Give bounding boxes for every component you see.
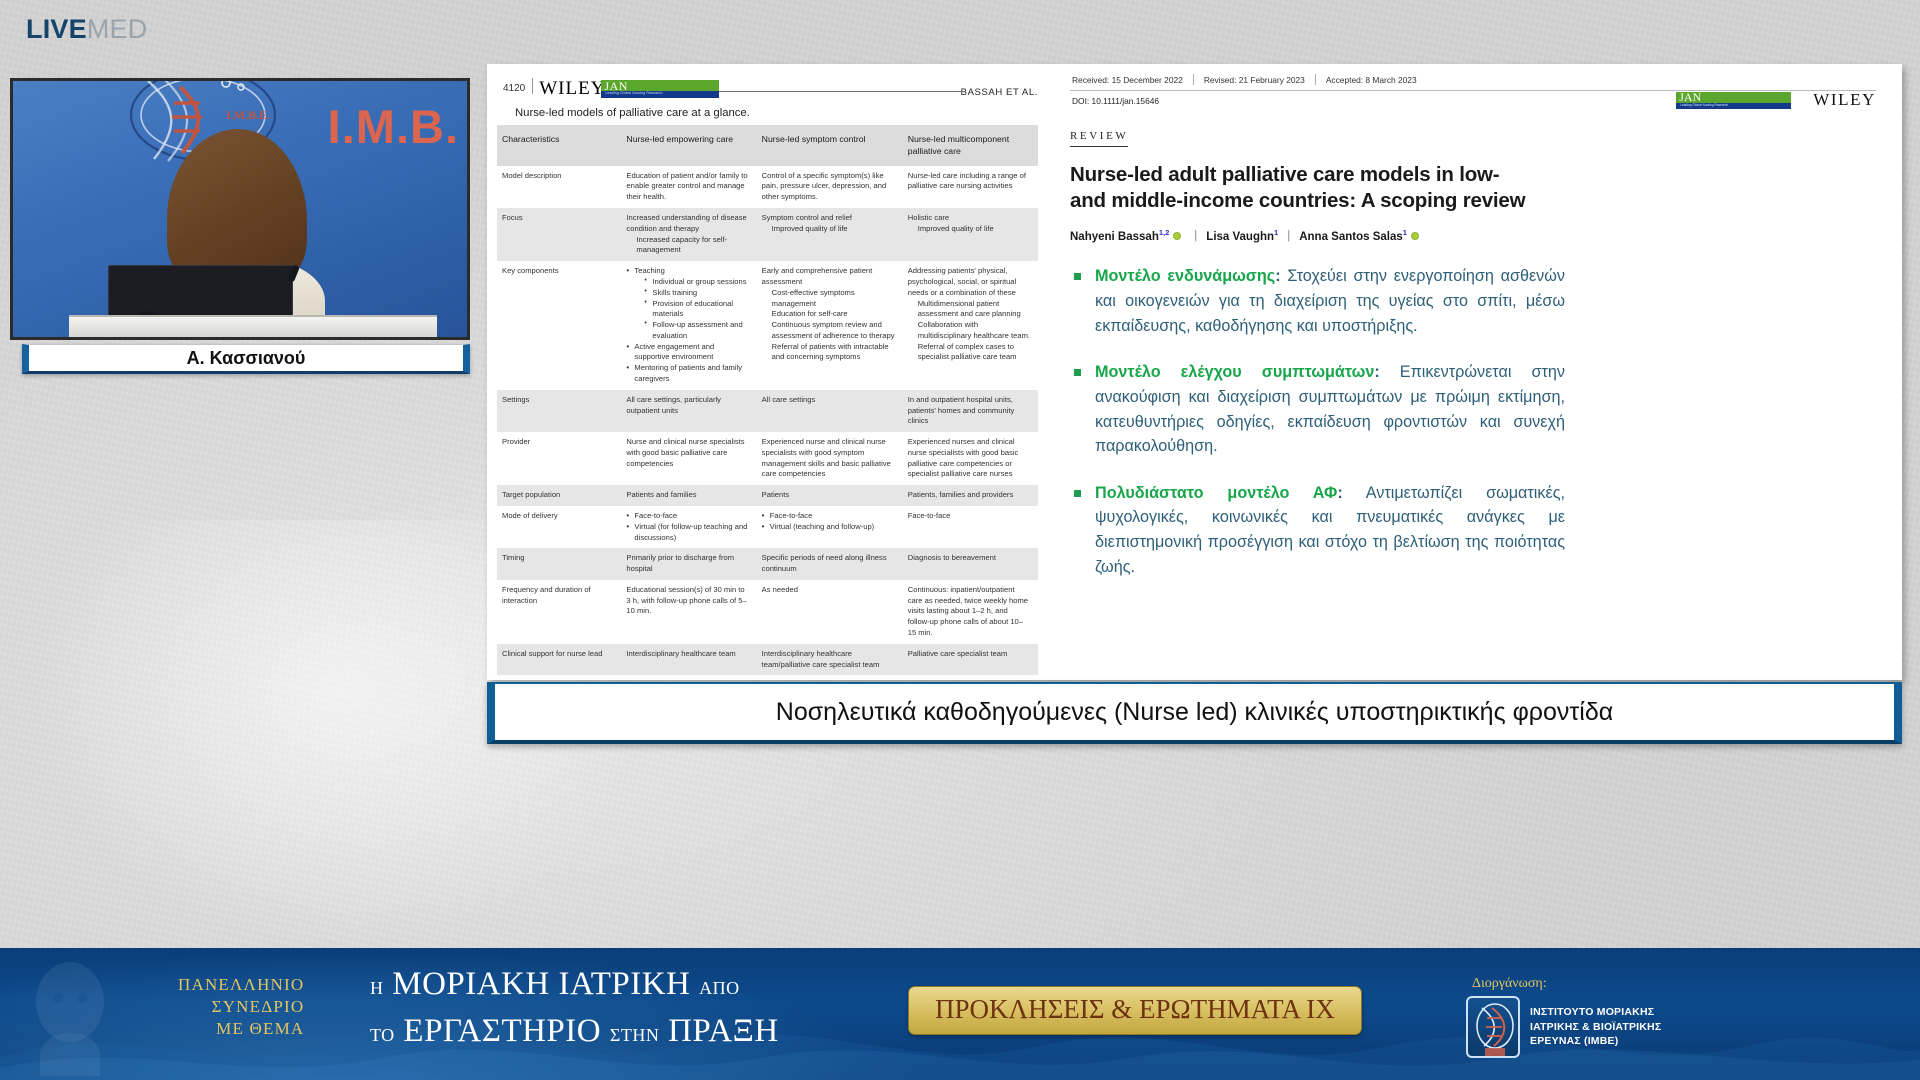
table-cell-c0: Timing — [497, 548, 621, 580]
author-separator: | — [1287, 230, 1290, 242]
conf-title-l2-tail: ΠΡΑΞΗ — [668, 1013, 779, 1049]
organizer-line-2: ΕΡΕΥΝΑΣ (ΙΜΒΕ) — [1530, 1034, 1661, 1049]
logo-live-text: LIVE — [26, 14, 87, 44]
orcid-icon — [1173, 232, 1181, 240]
conf-title-l2-mid: ΣΤΗΝ — [610, 1025, 659, 1045]
table-cell-c3: Continuous: inpatient/outpatient care as… — [903, 580, 1038, 644]
logo-med-text: MED — [87, 14, 148, 44]
organizer-label: Διοργάνωση: — [1472, 976, 1547, 992]
table-cell-c1: Patients and families — [621, 485, 756, 506]
conf-line-0: ΠΑΝΕΛΛΗΝΙΟ — [178, 974, 304, 996]
philosopher-bust-icon — [10, 952, 130, 1076]
speaker-name: Α. Κασσιανού — [187, 348, 306, 369]
speaker-name-plate: Α. Κασσιανού — [22, 344, 470, 374]
table-cell-c0: Key components — [497, 261, 621, 390]
table-row: ProviderNurse and clinical nurse special… — [497, 432, 1038, 485]
conference-subtitle: ΠΑΝΕΛΛΗΝΙΟ ΣΥΝΕΔΡΙΟ ΜΕ ΘΕΜΑ — [178, 974, 304, 1039]
conf-title-l2-pre: ΤΟ — [370, 1025, 395, 1045]
organizer-line-1: ΙΑΤΡΙΚΗΣ & ΒΙΟΪΑΤΡΙΚΗΣ — [1530, 1020, 1661, 1035]
table-cell-c0: Mode of delivery — [497, 506, 621, 548]
author-name: Lisa Vaughn1 — [1206, 228, 1278, 243]
author-name: Anna Santos Salas1 — [1299, 228, 1423, 243]
table-cell-c2: Early and comprehensive patient assessme… — [757, 261, 903, 390]
article-page: Received: 15 December 2022 Revised: 21 F… — [1052, 64, 1902, 680]
conf-title-l2: ΕΡΓΑΣΤΗΡΙΟ — [403, 1013, 601, 1049]
greek-bullet-list: Μοντέλο ενδυνάμωσης: Στοχεύει στην ενεργ… — [1070, 264, 1876, 579]
journal-table-page: 4120 WILEY JAN Leading Global Nursing Re… — [487, 64, 1052, 680]
table-cell-c1: Increased understanding of disease condi… — [621, 208, 756, 261]
table-cell-c2: Face-to-faceVirtual (teaching and follow… — [757, 506, 903, 548]
greek-bullet-text: Μοντέλο ελέγχου συμπτωμάτων: Επικεντρώνε… — [1095, 360, 1565, 459]
table-cell-c3: Palliative care specialist team — [903, 644, 1038, 676]
table-cell-c0: Frequency and duration of interaction — [497, 580, 621, 644]
speaker-video[interactable]: I.M.B.E. I.M.B. — [10, 78, 470, 340]
table-row: Model descriptionEducation of patient an… — [497, 166, 1038, 208]
conference-banner: ΠΑΝΕΛΛΗΝΙΟ ΣΥΝΕΔΡΙΟ ΜΕ ΘΕΜΑ Η ΜΟΡΙΑΚΗ ΙΑ… — [0, 948, 1920, 1080]
table-cell-c2: Patients — [757, 485, 903, 506]
jan-logo-right: JAN Leading Global Nursing Research — [1676, 92, 1791, 109]
table-cell-c2: Control of a specific symptom(s) like pa… — [757, 166, 903, 208]
conf-title-l1-pre: Η — [370, 978, 384, 998]
table-cell-c3: Nurse-led care including a range of pall… — [903, 166, 1038, 208]
article-type-kicker: REVIEW — [1070, 130, 1128, 147]
square-bullet-icon — [1074, 490, 1081, 497]
table-cell-c3: Holistic careImproved quality of life — [903, 208, 1038, 261]
author-separator: | — [1194, 230, 1197, 242]
orcid-icon — [1411, 232, 1419, 240]
jan-logo-left: JAN Leading Global Nursing Research — [601, 80, 719, 98]
greek-bullet-item: Μοντέλο ενδυνάμωσης: Στοχεύει στην ενεργ… — [1070, 264, 1876, 338]
table-cell-c0: Focus — [497, 208, 621, 261]
revised-date: Revised: 21 February 2023 — [1194, 75, 1315, 85]
table-cell-c0: Provider — [497, 432, 621, 485]
greek-bullet-text: Μοντέλο ενδυνάμωσης: Στοχεύει στην ενεργ… — [1095, 264, 1565, 338]
greek-bullet-text: Πολυδιάστατο μοντέλο ΑΦ: Αντιμετωπίζει σ… — [1095, 481, 1565, 580]
table-cell-c1: Interdisciplinary healthcare team — [621, 644, 756, 676]
article-title: Nurse-led adult palliative care models i… — [1070, 162, 1540, 214]
conf-line-1: ΣΥΝΕΔΡΙΟ — [178, 996, 304, 1018]
table-cell-c1: TeachingIndividual or group sessionsSkil… — [621, 261, 756, 390]
organizer-line-0: ΙΝΣΤΙΤΟΥΤΟ ΜΟΡΙΑΚΗΣ — [1530, 1005, 1661, 1020]
talk-title-text: Νοσηλευτικά καθοδηγούμενες (Nurse led) κ… — [776, 698, 1613, 727]
table-cell-c2: Symptom control and reliefImproved quali… — [757, 208, 903, 261]
table-cell-c0: Settings — [497, 390, 621, 432]
journal-page-header: 4120 WILEY JAN Leading Global Nursing Re… — [497, 78, 1038, 98]
table-cell-c0: Model description — [497, 166, 621, 208]
author-name: Nahyeni Bassah1,2 — [1070, 228, 1185, 243]
organizer-name: ΙΝΣΤΙΤΟΥΤΟ ΜΟΡΙΑΚΗΣ ΙΑΤΡΙΚΗΣ & ΒΙΟΪΑΤΡΙΚ… — [1530, 1005, 1661, 1050]
presentation-slide[interactable]: 4120 WILEY JAN Leading Global Nursing Re… — [487, 64, 1902, 680]
table-cell-c2: Experienced nurse and clinical nurse spe… — [757, 432, 903, 485]
table-cell-c1: Face-to-faceVirtual (for follow-up teach… — [621, 506, 756, 548]
table-row: Mode of deliveryFace-to-faceVirtual (for… — [497, 506, 1038, 548]
header-rule — [719, 91, 960, 92]
accepted-date: Accepted: 8 March 2023 — [1316, 75, 1427, 85]
page-folio-number: 4120 — [497, 78, 533, 94]
table-cell-c0: Clinical support for nurse lead — [497, 644, 621, 676]
table-cell-c3: In and outpatient hospital units, patien… — [903, 390, 1038, 432]
table-cell-c1: Education of patient and/or family to en… — [621, 166, 756, 208]
table-cell-c0: Target population — [497, 485, 621, 506]
table-header-row: Characteristics Nurse-led empowering car… — [497, 125, 1038, 166]
table-cell-c1: Educational session(s) of 30 min to 3 h,… — [621, 580, 756, 644]
laptop-screen — [108, 265, 293, 317]
wiley-logo-left: WILEY — [539, 78, 605, 98]
video-imb-watermark: I.M.B. — [328, 99, 459, 154]
table-cell-c2: Interdisciplinary healthcare team/pallia… — [757, 644, 903, 676]
running-head: BASSAH ET AL. — [961, 78, 1038, 98]
conference-edition-pill: ΠΡΟΚΛΗΣΕΙΣ & ΕΡΩΤΗΜΑΤΑ IX — [908, 986, 1362, 1035]
table-col-header-0: Characteristics — [497, 125, 621, 166]
table-row: Frequency and duration of interactionEdu… — [497, 580, 1038, 644]
square-bullet-icon — [1074, 273, 1081, 280]
table-cell-c3: Diagnosis to bereavement — [903, 548, 1038, 580]
table-row: Target populationPatients and familiesPa… — [497, 485, 1038, 506]
table-cell-c3: Addressing patients' physical, psycholog… — [903, 261, 1038, 390]
table-cell-c3: Patients, families and providers — [903, 485, 1038, 506]
table-col-header-3: Nurse-led multicomponent palliative care — [903, 125, 1038, 166]
table-row: Clinical support for nurse leadInterdisc… — [497, 644, 1038, 676]
table-cell-c1: Primarily prior to discharge from hospit… — [621, 548, 756, 580]
wiley-logo-right: WILEY — [1813, 90, 1876, 110]
received-date: Received: 15 December 2022 — [1070, 75, 1193, 85]
conference-title: Η ΜΟΡΙΑΚΗ ΙΑΤΡΙΚΗ ΑΠΟ ΤΟ ΕΡΓΑΣΤΗΡΙΟ ΣΤΗΝ… — [370, 966, 779, 1050]
article-dates-bar: Received: 15 December 2022 Revised: 21 F… — [1070, 74, 1876, 91]
table-cell-c2: All care settings — [757, 390, 903, 432]
journal-branding: JAN Leading Global Nursing Research WILE… — [1676, 90, 1876, 110]
greek-bullet-item: Μοντέλο ελέγχου συμπτωμάτων: Επικεντρώνε… — [1070, 360, 1876, 459]
podium-desk — [69, 315, 437, 337]
square-bullet-icon — [1074, 369, 1081, 376]
table-cell-c3: Experienced nurses and clinical nurse sp… — [903, 432, 1038, 485]
table-cell-c2: As needed — [757, 580, 903, 644]
organizer-block: ΙΝΣΤΙΤΟΥΤΟ ΜΟΡΙΑΚΗΣ ΙΑΤΡΙΚΗΣ & ΒΙΟΪΑΤΡΙΚ… — [1466, 996, 1661, 1058]
livemed-logo: LIVEMED — [26, 14, 147, 45]
table-cell-c1: Nurse and clinical nurse specialists wit… — [621, 432, 756, 485]
table-col-header-2: Nurse-led symptom control — [757, 125, 903, 166]
table-cell-c2: Specific periods of need along illness c… — [757, 548, 903, 580]
table-caption: Nurse-led models of palliative care at a… — [515, 107, 1038, 119]
table-row: FocusIncreased understanding of disease … — [497, 208, 1038, 261]
conf-title-l1-post: ΑΠΟ — [699, 978, 740, 998]
jan-tagline-right: Leading Global Nursing Research — [1680, 103, 1728, 107]
table-cell-c1: All care settings, particularly outpatie… — [621, 390, 756, 432]
greek-bullet-item: Πολυδιάστατο μοντέλο ΑΦ: Αντιμετωπίζει σ… — [1070, 481, 1876, 580]
talk-title-banner: Νοσηλευτικά καθοδηγούμενες (Nurse led) κ… — [487, 682, 1902, 744]
table-row: TimingPrimarily prior to discharge from … — [497, 548, 1038, 580]
table-row: Key componentsTeachingIndividual or grou… — [497, 261, 1038, 390]
palliative-care-models-table: Characteristics Nurse-led empowering car… — [497, 125, 1038, 675]
jan-tagline: Leading Global Nursing Research — [605, 91, 662, 95]
conf-line-2: ΜΕ ΘΕΜΑ — [178, 1018, 304, 1040]
table-cell-c3: Face-to-face — [903, 506, 1038, 548]
article-authors: Nahyeni Bassah1,2|Lisa Vaughn1|Anna Sant… — [1070, 228, 1876, 243]
table-row: SettingsAll care settings, particularly … — [497, 390, 1038, 432]
conf-title-l1: ΜΟΡΙΑΚΗ ΙΑΤΡΙΚΗ — [392, 966, 690, 1002]
imbe-seal-icon — [1466, 996, 1520, 1058]
table-col-header-1: Nurse-led empowering care — [621, 125, 756, 166]
